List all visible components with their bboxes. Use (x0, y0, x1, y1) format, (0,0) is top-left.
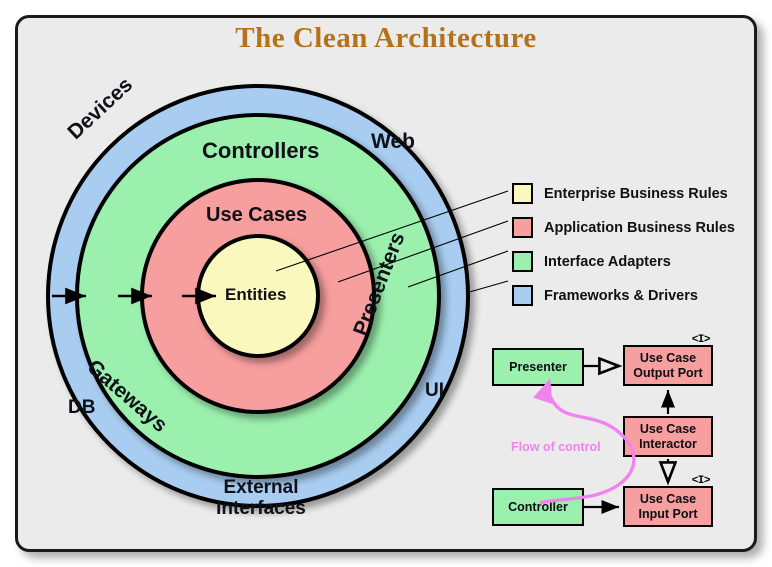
ring-label-controllers: Controllers (202, 139, 319, 163)
interface-marker-icon: <I> (692, 334, 710, 347)
flow-box-controller[interactable]: Controller (492, 488, 584, 526)
flow-box-use-case-input-port[interactable]: <I> Use Case Input Port (623, 486, 713, 527)
legend-swatch-enterprise-business-rules (512, 183, 533, 204)
legend-item-interface-adapters[interactable]: Interface Adapters (512, 248, 735, 275)
flow-box-presenter[interactable]: Presenter (492, 348, 584, 386)
interface-marker-icon: <I> (692, 475, 710, 488)
flow-box-use-case-interactor[interactable]: Use Case Interactor (623, 416, 713, 457)
ring-label-entities: Entities (225, 286, 286, 304)
legend-item-application-business-rules[interactable]: Application Business Rules (512, 214, 735, 241)
interactor-line-1: Use Case (640, 422, 696, 436)
interactor-line-2: Interactor (639, 437, 697, 451)
legend-item-enterprise-business-rules[interactable]: Enterprise Business Rules (512, 180, 735, 207)
legend-label-application-business-rules: Application Business Rules (544, 220, 735, 236)
diagram-canvas: The Clean Architecture Devices Web DB UI… (0, 0, 772, 567)
legend-swatch-application-business-rules (512, 217, 533, 238)
ring-label-external-interfaces: External Interfaces (206, 478, 316, 519)
legend: Enterprise Business Rules Application Bu… (512, 180, 735, 316)
flow-box-use-case-output-port[interactable]: <I> Use Case Output Port (623, 345, 713, 386)
legend-item-frameworks-and-drivers[interactable]: Frameworks & Drivers (512, 282, 735, 309)
output-port-line-2: Output Port (633, 366, 702, 380)
external-interfaces-line-1: External (206, 478, 316, 499)
legend-label-enterprise-business-rules: Enterprise Business Rules (544, 186, 728, 202)
ring-label-web: Web (371, 131, 415, 154)
external-interfaces-line-2: Interfaces (206, 499, 316, 520)
input-port-line-1: Use Case (640, 492, 696, 506)
legend-swatch-frameworks-and-drivers (512, 285, 533, 306)
flow-box-presenter-label: Presenter (509, 360, 567, 374)
ring-label-db: DB (68, 398, 95, 419)
legend-swatch-interface-adapters (512, 251, 533, 272)
legend-label-frameworks-and-drivers: Frameworks & Drivers (544, 288, 698, 304)
input-port-line-2: Input Port (638, 507, 697, 521)
ring-label-ui: UI (425, 381, 444, 402)
flow-box-use-case-input-port-label: Use Case Input Port (638, 492, 697, 521)
ring-label-use-cases: Use Cases (206, 205, 307, 227)
flow-box-controller-label: Controller (508, 500, 568, 514)
legend-label-interface-adapters: Interface Adapters (544, 254, 671, 270)
output-port-line-1: Use Case (640, 351, 696, 365)
flow-box-use-case-interactor-label: Use Case Interactor (639, 422, 697, 451)
flow-of-control-label: Flow of control (511, 440, 601, 454)
flow-box-use-case-output-port-label: Use Case Output Port (633, 351, 702, 380)
